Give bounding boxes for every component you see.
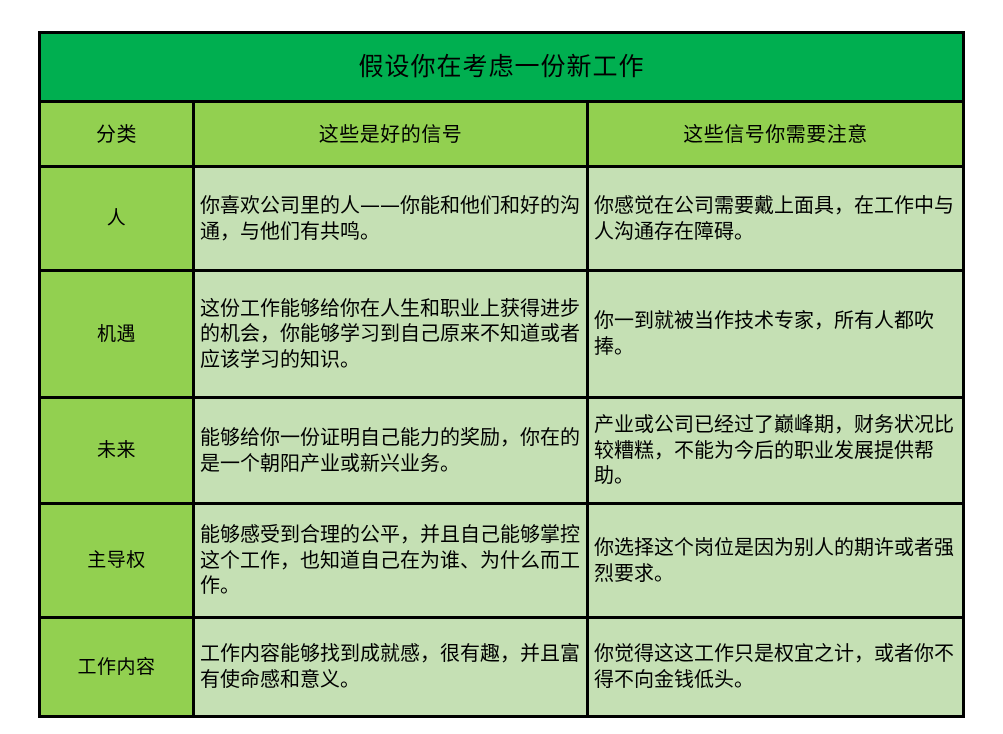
row-warning-signal-text: 你选择这个岗位是因为别人的期许或者强烈要求。 <box>589 535 962 586</box>
row-good-signal-text: 能够感受到合理的公平，并且自己能够掌控这个工作，也知道自己在为谁、为什么而工作。 <box>195 522 586 599</box>
table-row: 人 你喜欢公司里的人——你能和他们和好的沟通，与他们有共鸣。 你感觉在公司需要戴… <box>40 167 964 271</box>
page-title: 假设你在考虑一份新工作 <box>41 53 962 81</box>
row-category-cell: 工作内容 <box>40 618 194 717</box>
row-warning-signal-cell: 你一到就被当作技术专家，所有人都吹捧。 <box>588 271 964 398</box>
comparison-table-container: 假设你在考虑一份新工作 分类 这些是好的信号 这些信号你需要注意 人 <box>38 31 962 700</box>
row-good-signal-cell: 工作内容能够找到成就感，很有趣，并且富有使命感和意义。 <box>194 618 588 717</box>
row-category-label: 机遇 <box>41 323 192 346</box>
row-warning-signal-text: 你觉得这这工作只是权宜之计，或者你不得不向金钱低头。 <box>589 641 962 692</box>
row-warning-signal-cell: 你觉得这这工作只是权宜之计，或者你不得不向金钱低头。 <box>588 618 964 717</box>
row-category-cell: 机遇 <box>40 271 194 398</box>
column-header-category-label: 分类 <box>41 123 192 146</box>
row-warning-signal-cell: 你选择这个岗位是因为别人的期许或者强烈要求。 <box>588 504 964 618</box>
row-good-signal-cell: 这份工作能够给你在人生和职业上获得进步的机会，你能够学习到自己原来不知道或者应该… <box>194 271 588 398</box>
row-good-signal-text: 这份工作能够给你在人生和职业上获得进步的机会，你能够学习到自己原来不知道或者应该… <box>195 296 586 373</box>
row-good-signal-cell: 你喜欢公司里的人——你能和他们和好的沟通，与他们有共鸣。 <box>194 167 588 271</box>
table-row: 工作内容 工作内容能够找到成就感，很有趣，并且富有使命感和意义。 你觉得这这工作… <box>40 618 964 717</box>
row-good-signal-text: 工作内容能够找到成就感，很有趣，并且富有使命感和意义。 <box>195 641 586 692</box>
row-category-label: 工作内容 <box>41 656 192 679</box>
row-warning-signal-cell: 你感觉在公司需要戴上面具，在工作中与人沟通存在障碍。 <box>588 167 964 271</box>
row-category-label: 主导权 <box>41 549 192 572</box>
row-warning-signal-text: 你感觉在公司需要戴上面具，在工作中与人沟通存在障碍。 <box>589 193 962 244</box>
job-signals-comparison-table: 假设你在考虑一份新工作 分类 这些是好的信号 这些信号你需要注意 人 <box>38 31 965 718</box>
row-good-signal-text: 你喜欢公司里的人——你能和他们和好的沟通，与他们有共鸣。 <box>195 193 586 244</box>
row-warning-signal-text: 你一到就被当作技术专家，所有人都吹捧。 <box>589 308 962 359</box>
table-title-cell: 假设你在考虑一份新工作 <box>40 33 964 102</box>
row-warning-signal-text: 产业或公司已经过了巅峰期，财务状况比较糟糕，不能为今后的职业发展提供帮助。 <box>589 412 962 489</box>
table-row: 主导权 能够感受到合理的公平，并且自己能够掌控这个工作，也知道自己在为谁、为什么… <box>40 504 964 618</box>
table-row: 未来 能够给你一份证明自己能力的奖励，你在的是一个朝阳产业或新兴业务。 产业或公… <box>40 398 964 504</box>
row-category-cell: 未来 <box>40 398 194 504</box>
column-header-good-signals: 这些是好的信号 <box>194 102 588 167</box>
column-header-category: 分类 <box>40 102 194 167</box>
table-header-row: 分类 这些是好的信号 这些信号你需要注意 <box>40 102 964 167</box>
row-category-cell: 人 <box>40 167 194 271</box>
row-warning-signal-cell: 产业或公司已经过了巅峰期，财务状况比较糟糕，不能为今后的职业发展提供帮助。 <box>588 398 964 504</box>
row-category-label: 未来 <box>41 439 192 462</box>
row-good-signal-cell: 能够感受到合理的公平，并且自己能够掌控这个工作，也知道自己在为谁、为什么而工作。 <box>194 504 588 618</box>
row-good-signal-text: 能够给你一份证明自己能力的奖励，你在的是一个朝阳产业或新兴业务。 <box>195 425 586 476</box>
table-title-row: 假设你在考虑一份新工作 <box>40 33 964 102</box>
table-row: 机遇 这份工作能够给你在人生和职业上获得进步的机会，你能够学习到自己原来不知道或… <box>40 271 964 398</box>
column-header-warning-signals-label: 这些信号你需要注意 <box>589 123 962 146</box>
column-header-warning-signals: 这些信号你需要注意 <box>588 102 964 167</box>
row-good-signal-cell: 能够给你一份证明自己能力的奖励，你在的是一个朝阳产业或新兴业务。 <box>194 398 588 504</box>
row-category-label: 人 <box>41 207 192 230</box>
column-header-good-signals-label: 这些是好的信号 <box>195 123 586 146</box>
row-category-cell: 主导权 <box>40 504 194 618</box>
